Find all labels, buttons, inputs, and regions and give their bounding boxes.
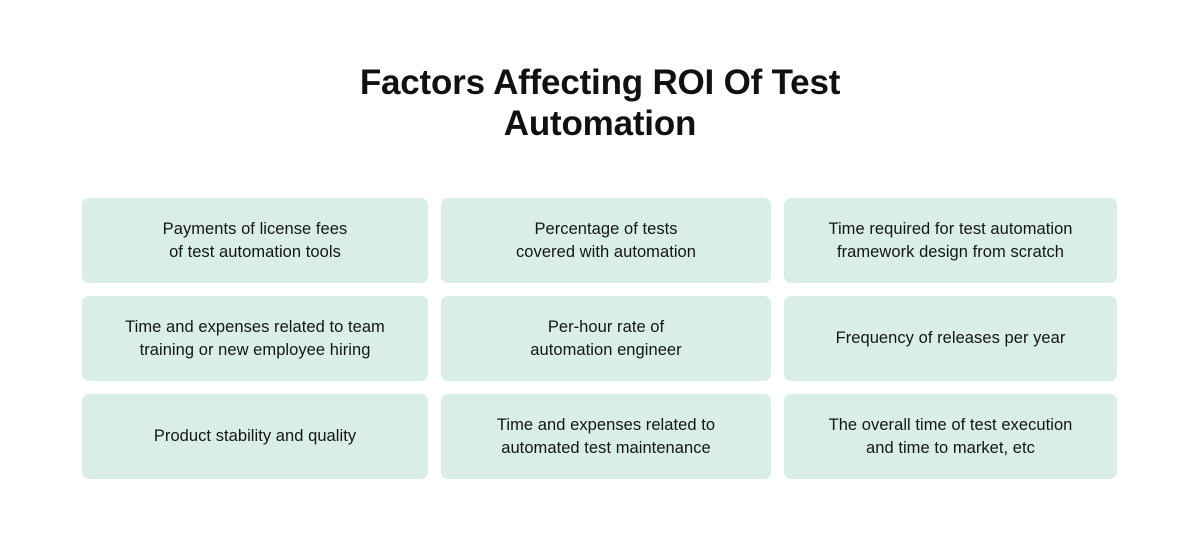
factor-card-6: Frequency of releases per year xyxy=(784,296,1117,381)
factor-card-3-label: Time required for test automation framew… xyxy=(828,218,1072,264)
factor-card-9-label: The overall time of test execution and t… xyxy=(829,414,1073,460)
factor-card-8-label: Time and expenses related to automated t… xyxy=(497,414,715,460)
factor-card-9: The overall time of test execution and t… xyxy=(784,394,1117,479)
factors-grid: Payments of license fees of test automat… xyxy=(82,198,1117,479)
factor-card-1-label: Payments of license fees of test automat… xyxy=(163,218,348,264)
page-title: Factors Affecting ROI Of Test Automation xyxy=(0,62,1200,144)
factor-card-4: Time and expenses related to team traini… xyxy=(82,296,428,381)
factor-card-8: Time and expenses related to automated t… xyxy=(441,394,771,479)
factor-card-5: Per-hour rate of automation engineer xyxy=(441,296,771,381)
page-title-line-1: Factors Affecting ROI Of Test xyxy=(0,62,1200,103)
page-title-line-2: Automation xyxy=(0,103,1200,144)
factor-card-4-label: Time and expenses related to team traini… xyxy=(125,316,385,362)
factor-card-5-label: Per-hour rate of automation engineer xyxy=(530,316,681,362)
factor-card-3: Time required for test automation framew… xyxy=(784,198,1117,283)
factor-card-6-label: Frequency of releases per year xyxy=(836,327,1066,350)
factor-card-7: Product stability and quality xyxy=(82,394,428,479)
factor-card-7-label: Product stability and quality xyxy=(154,425,356,448)
infographic-root: Factors Affecting ROI Of Test Automation… xyxy=(0,0,1200,554)
factor-card-1: Payments of license fees of test automat… xyxy=(82,198,428,283)
factor-card-2-label: Percentage of tests covered with automat… xyxy=(516,218,696,264)
factor-card-2: Percentage of tests covered with automat… xyxy=(441,198,771,283)
